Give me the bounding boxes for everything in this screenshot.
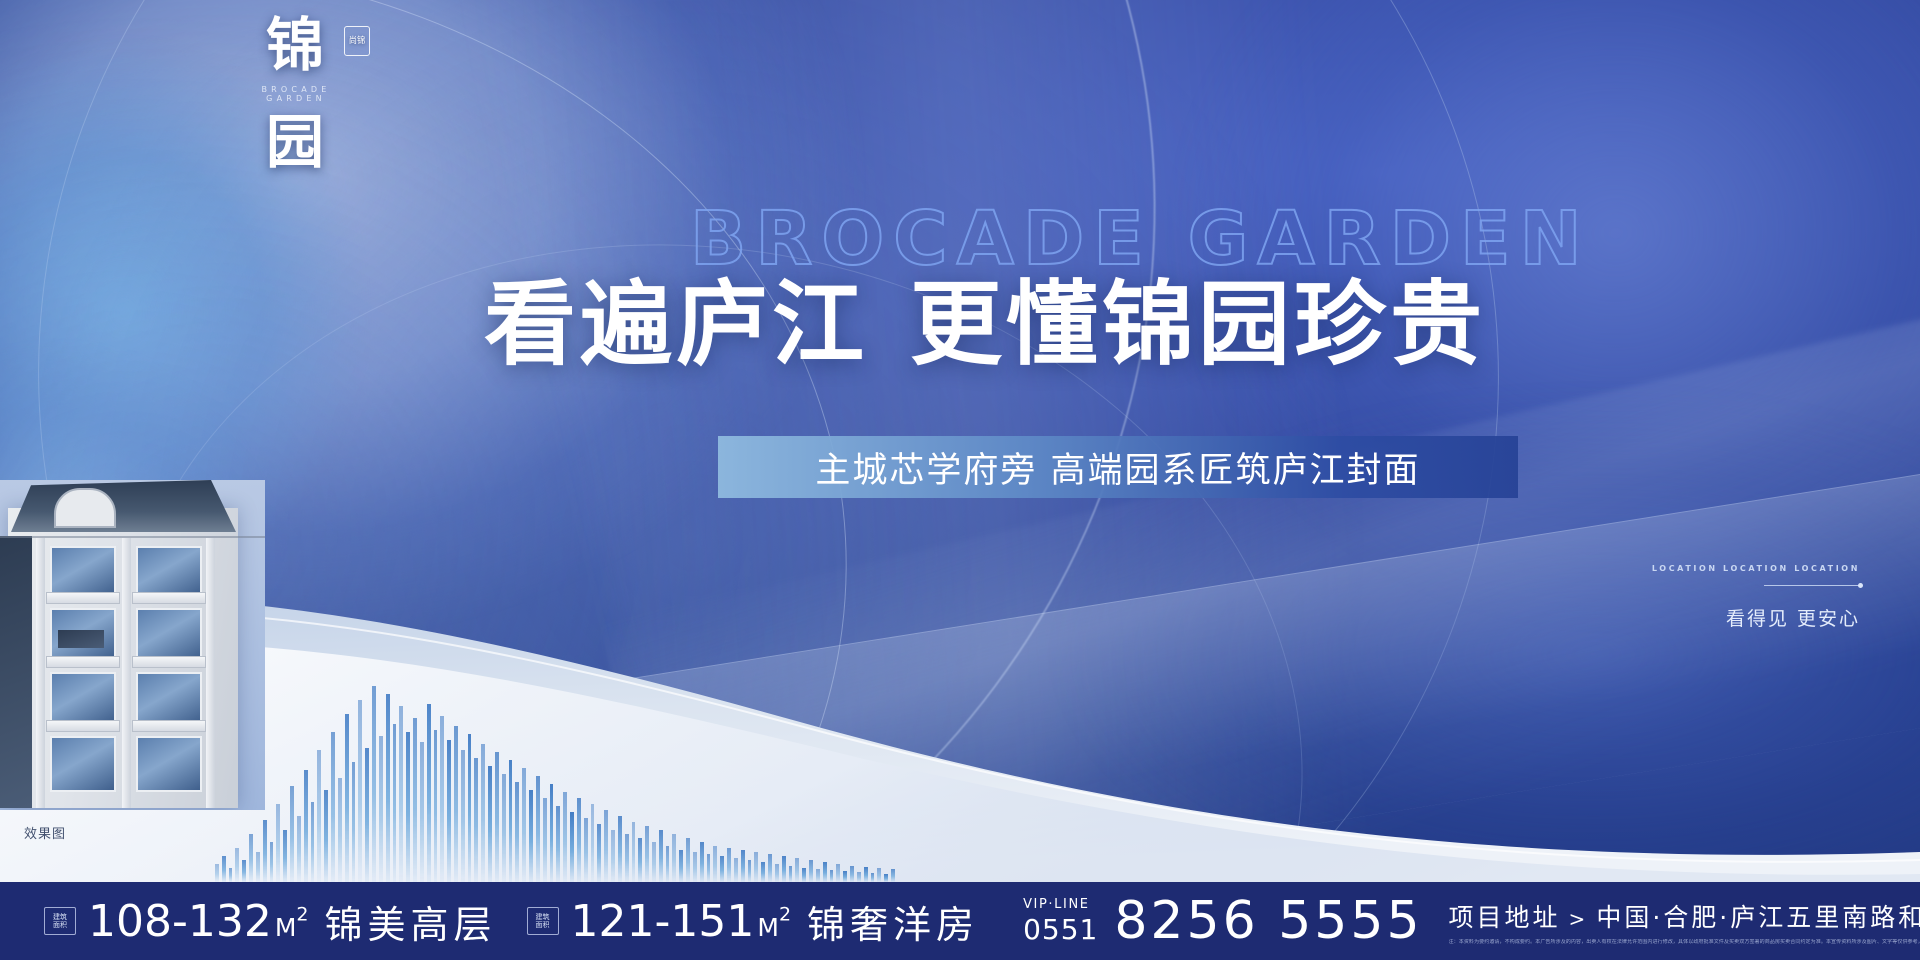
logo-char-bottom: 园	[236, 111, 356, 173]
logo-seal-text: 尚锦	[349, 37, 366, 45]
area1-unit: M	[275, 913, 297, 942]
area-range-1: 108-132M2	[88, 896, 309, 947]
page-headline: 看遍庐江更懂锦园珍贵	[484, 272, 1494, 376]
address-block: 项目地址>中国·合肥·庐江五里南路和临湖路交口 注：本资料为要约邀请，不构成要约…	[1449, 898, 1920, 945]
badge2-line1: 建筑	[536, 913, 550, 921]
area-range-2: 121-151M2	[571, 896, 792, 947]
phone-number[interactable]: 8256 5555	[1114, 891, 1422, 951]
rendering-note: 效果图	[24, 823, 66, 842]
subtitle-text: 主城芯学府旁 高端园系匠筑庐江封面	[815, 442, 1420, 493]
location-tagline-row: LOCATION LOCATION LOCATION	[1560, 560, 1860, 596]
headline-part-2: 更懂锦园珍贵	[910, 270, 1486, 378]
badge1-line1: 建筑	[53, 913, 67, 921]
area-badge-icon-1: 建筑 面积	[44, 907, 76, 935]
area2-value: 121-151	[571, 896, 755, 947]
badge2-line2: 面积	[536, 921, 550, 929]
location-tagline: LOCATION LOCATION LOCATION 看得见 更安心	[1560, 560, 1860, 631]
brand-logo: 锦 BROCADE GARDEN 园 尚锦	[236, 14, 356, 173]
legal-disclaimer: 注：本资料为要约邀请，不构成要约。本广告所涉及的内容，出卖人有权在法律允许范围内…	[1449, 939, 1920, 945]
building-illustration	[0, 480, 265, 810]
product-name-1: 锦美高层	[325, 894, 497, 949]
headline-part-1: 看遍庐江	[484, 270, 868, 378]
area-badge-icon-2: 建筑 面积	[527, 907, 559, 935]
area2-unit: M	[757, 913, 779, 942]
location-rule-icon	[1764, 585, 1860, 586]
product-name-2: 锦奢洋房	[807, 894, 979, 949]
logo-english: BROCADE GARDEN	[236, 85, 356, 103]
vip-line-text: VIP·LINE	[1023, 897, 1098, 912]
logo-char-top: 锦	[236, 14, 356, 76]
area2-sup: 2	[779, 903, 791, 925]
location-chinese: 看得见 更安心	[1560, 604, 1860, 631]
skyline-bars	[215, 682, 895, 882]
area1-sup: 2	[296, 903, 308, 925]
address-line: 项目地址>中国·合肥·庐江五里南路和临湖路交口	[1449, 898, 1920, 934]
area1-value: 108-132	[88, 896, 272, 947]
address-value: 中国·合肥·庐江五里南路和临湖路交口	[1596, 903, 1920, 932]
logo-seal-icon: 尚锦	[344, 26, 370, 56]
poster-canvas: 效果图 锦 BROCADE GARDEN 园 尚锦 BROCADE GARDEN…	[0, 0, 1920, 960]
location-english: LOCATION LOCATION LOCATION	[1652, 564, 1860, 573]
vip-area-code: 0551	[1023, 913, 1098, 946]
vip-line-label: VIP·LINE 0551	[1023, 897, 1098, 946]
badge1-line2: 面积	[53, 921, 67, 929]
footer-bar: 建筑 面积 108-132M2 锦美高层 建筑 面积 121-151M2 锦奢洋…	[0, 882, 1920, 960]
address-arrow-icon: >	[1569, 907, 1589, 931]
address-label: 项目地址	[1449, 903, 1561, 932]
subtitle-banner: 主城芯学府旁 高端园系匠筑庐江封面	[718, 436, 1518, 498]
